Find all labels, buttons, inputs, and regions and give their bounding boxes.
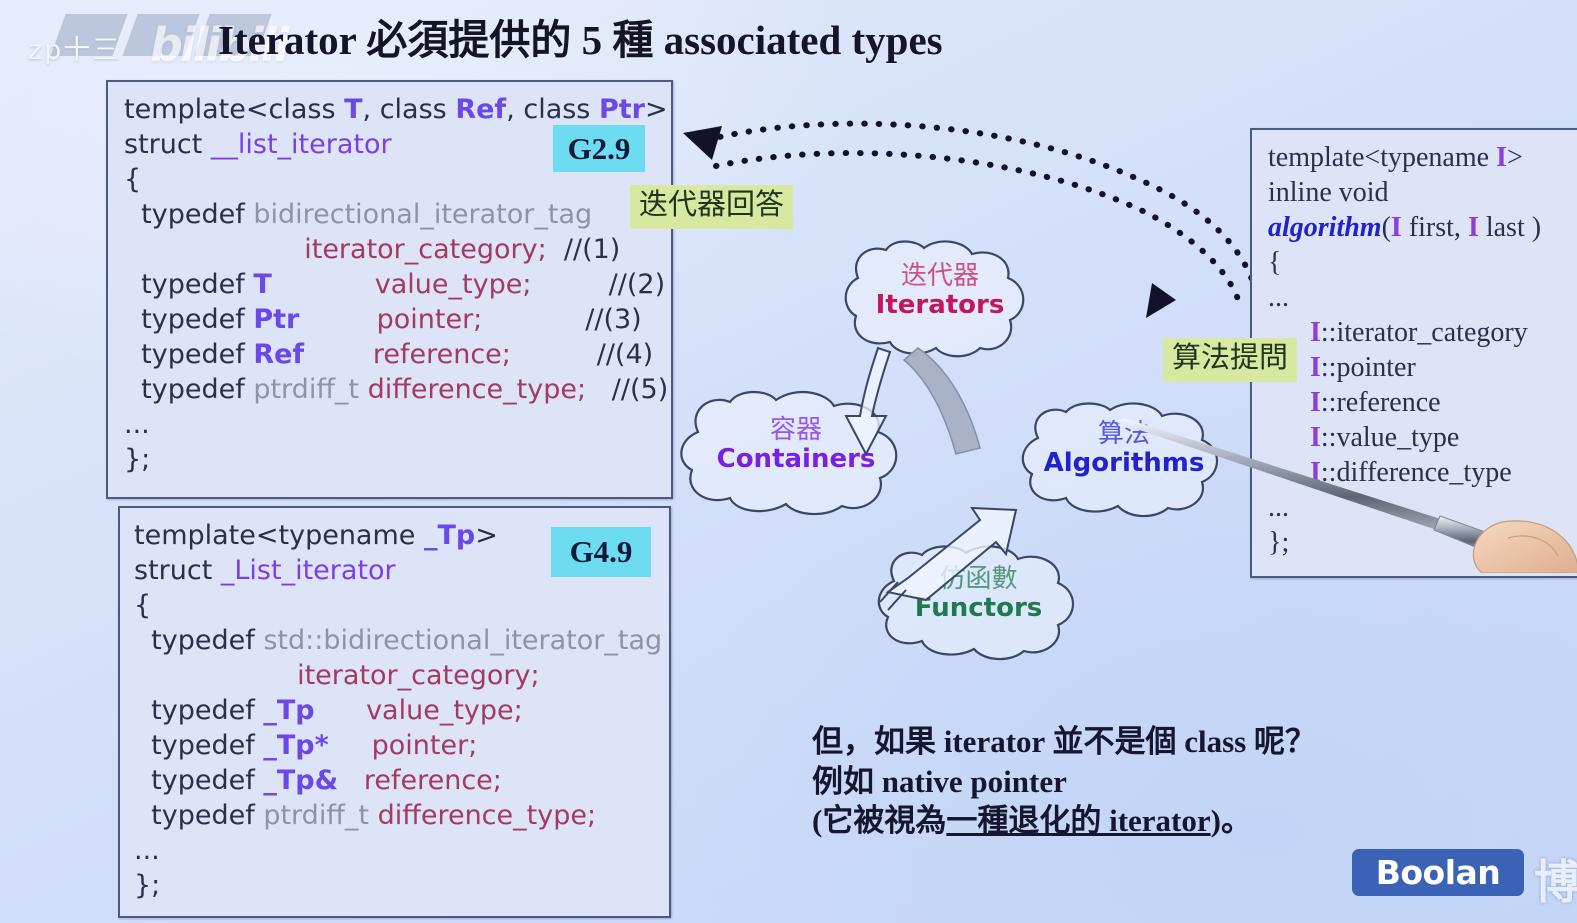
code-line: typedef std::bidirectional_iterator_tag: [134, 627, 662, 654]
boolan-logo-text: Boolan: [1376, 853, 1501, 892]
code-token: ...: [124, 409, 150, 440]
code-token: typedef: [134, 625, 263, 656]
code-token: iterator_category;: [297, 660, 539, 691]
code-token: pointer;: [372, 730, 478, 761]
code-token: value_type;: [375, 269, 532, 300]
code-token: [272, 269, 375, 300]
annotation-iterator-answers: 迭代器回答: [630, 185, 793, 229]
code-token: >: [475, 520, 498, 551]
code-token: >: [1507, 142, 1523, 173]
slide-canvas: zp十三 bilibili Iterator 必須提供的 5 種 associa…: [0, 0, 1577, 923]
code-line: iterator_category; //(1): [124, 236, 620, 263]
code-token: T: [253, 269, 271, 300]
code-line: template<typename I>: [1268, 144, 1523, 172]
code-token: [134, 660, 297, 691]
code-token: I: [1310, 352, 1321, 383]
bottom-note: 但，如果 iterator 並不是個 class 呢？ 例如 native po…: [812, 722, 1316, 841]
code-token: //(5): [586, 374, 668, 405]
code-line: typedef T value_type; //(2): [124, 271, 665, 298]
code-token: _Tp: [424, 520, 475, 551]
code-token: I: [1468, 212, 1479, 243]
code-token: template<class: [124, 94, 344, 125]
code-line: inline void: [1268, 179, 1389, 207]
code-token: ...: [1268, 492, 1289, 523]
code-line: struct _List_iterator: [134, 557, 396, 584]
code-line: typedef ptrdiff_t difference_type; //(5): [124, 376, 668, 403]
code-token: //(2): [531, 269, 665, 300]
code-token: _List_iterator: [221, 555, 396, 586]
code-token: Ref: [253, 339, 304, 370]
badge-g29: G2.9: [553, 125, 645, 172]
code-token: ::value_type: [1321, 422, 1459, 453]
code-line: iterator_category;: [134, 662, 540, 689]
code-token: I: [1310, 387, 1321, 418]
code-token: ::pointer: [1321, 352, 1416, 383]
code-line: I::value_type: [1268, 424, 1459, 452]
code-token: _Tp*: [263, 730, 328, 761]
code-token: ::reference: [1321, 387, 1441, 418]
code-token: I: [1310, 422, 1321, 453]
code-token: typedef: [124, 304, 253, 335]
bottom-note-line2: 例如 native pointer: [812, 762, 1316, 802]
code-token: _Tp&: [263, 765, 338, 796]
cloud-containers-cjk: 容器: [676, 416, 916, 445]
cloud-containers: 容器 Containers: [676, 388, 916, 516]
cloud-containers-en: Containers: [676, 445, 916, 474]
code-token: [124, 234, 304, 265]
code-line: {: [1268, 249, 1281, 277]
bottom-note-line3: (它被視為一種退化的 iterator)。: [812, 801, 1316, 841]
code-line: {: [124, 166, 141, 193]
code-token: I: [1310, 457, 1321, 488]
code-line: typedef _Tp value_type;: [134, 697, 523, 724]
code-token: pointer;: [377, 304, 483, 335]
code-line: ...: [1268, 494, 1289, 522]
code-line: {: [134, 592, 151, 619]
code-token: [338, 765, 364, 796]
code-token: (: [1382, 212, 1391, 243]
code-token: difference_type;: [378, 800, 596, 831]
code-token: struct: [134, 555, 221, 586]
cloud-iterators-cjk: 迭代器: [840, 262, 1040, 291]
cloud-iterators-en: Iterators: [840, 291, 1040, 320]
code-token: [304, 339, 373, 370]
code-line: typedef Ref reference; //(4): [124, 341, 653, 368]
code-token: , class: [363, 94, 456, 125]
code-token: Ptr: [599, 94, 645, 125]
code-token: bidirectional_iterator_tag: [253, 199, 592, 230]
code-token: algorithm: [1268, 212, 1382, 243]
code-line: ...: [134, 837, 160, 864]
code-token: ...: [1268, 282, 1289, 313]
code-token: T: [344, 94, 362, 125]
code-token: };: [124, 444, 150, 475]
cloud-functors-cjk: 仿函數: [876, 565, 1081, 594]
code-line: I::difference_type: [1268, 459, 1512, 487]
code-token: typedef: [124, 339, 253, 370]
code-token: typedef: [124, 374, 253, 405]
code-token: inline void: [1268, 177, 1389, 208]
code-token: template<typename: [134, 520, 424, 551]
code-line: };: [1268, 529, 1289, 557]
code-line: };: [134, 872, 160, 899]
code-token: _Tp: [263, 695, 314, 726]
code-token: , class: [506, 94, 599, 125]
code-token: typedef: [124, 269, 253, 300]
code-token: std::bidirectional_iterator_tag: [263, 625, 662, 656]
code-line: typedef _Tp& reference;: [134, 767, 502, 794]
code-line: };: [124, 446, 150, 473]
code-token: typedef: [134, 800, 263, 831]
code-token: >: [645, 94, 668, 125]
bottom-note-line1: 但，如果 iterator 並不是個 class 呢？: [812, 722, 1316, 762]
code-line: template<class T, class Ref, class Ptr>: [124, 96, 668, 123]
code-token: [1268, 422, 1310, 453]
code-block-algorithm: template<typename I>inline voidalgorithm…: [1250, 128, 1577, 578]
code-token: template<typename: [1268, 142, 1496, 173]
code-line: struct __list_iterator: [124, 131, 392, 158]
code-token: I: [1310, 317, 1321, 348]
code-line: typedef _Tp* pointer;: [134, 732, 477, 759]
code-line: typedef Ptr pointer; //(3): [124, 306, 642, 333]
code-token: reference;: [364, 765, 502, 796]
code-token: Ptr: [253, 304, 299, 335]
code-line: template<typename _Tp>: [134, 522, 498, 549]
code-token: };: [134, 870, 160, 901]
badge-g49: G4.9: [551, 527, 651, 577]
cloud-algorithms-cjk: 算法: [1018, 420, 1230, 449]
cloud-algorithms-en: Algorithms: [1018, 449, 1230, 478]
code-token: value_type;: [366, 695, 523, 726]
code-token: [299, 304, 376, 335]
bottom-note-line3-pre: (它被視為: [812, 803, 946, 838]
code-token: typedef: [124, 199, 253, 230]
code-token: ::difference_type: [1321, 457, 1512, 488]
code-line: ...: [1268, 284, 1289, 312]
code-token: reference;: [373, 339, 511, 370]
code-token: difference_type;: [368, 374, 586, 405]
boolan-logo-cjk: 博: [1534, 846, 1577, 912]
code-token: {: [134, 590, 151, 621]
code-token: //(4): [511, 339, 653, 370]
code-token: I: [1391, 212, 1402, 243]
code-token: //(1): [547, 234, 621, 265]
code-token: Ref: [455, 94, 506, 125]
code-line: I::iterator_category: [1268, 319, 1528, 347]
cloud-algorithms: 算法 Algorithms: [1018, 400, 1230, 512]
code-token: //(3): [482, 304, 641, 335]
bottom-note-line3-post: )。: [1211, 803, 1252, 838]
code-token: last ): [1479, 212, 1541, 243]
annotation-algorithm-asks: 算法提問: [1163, 338, 1297, 382]
code-token: typedef: [134, 695, 263, 726]
uploader-watermark-text: zp十三: [28, 28, 121, 67]
code-token: first,: [1402, 212, 1468, 243]
code-token: typedef: [134, 765, 263, 796]
cloud-functors-en: Functors: [876, 594, 1081, 623]
code-line: typedef ptrdiff_t difference_type;: [134, 802, 596, 829]
code-token: ptrdiff_t: [263, 800, 377, 831]
code-token: __list_iterator: [211, 129, 392, 160]
code-token: ::iterator_category: [1321, 317, 1528, 348]
code-token: {: [124, 164, 141, 195]
code-line: ...: [124, 411, 150, 438]
code-token: [1268, 457, 1310, 488]
code-token: };: [1268, 527, 1289, 558]
code-line: typedef bidirectional_iterator_tag: [124, 201, 592, 228]
code-token: {: [1268, 247, 1281, 278]
page-title: Iterator 必須提供的 5 種 associated types: [218, 6, 943, 66]
code-token: ptrdiff_t: [253, 374, 367, 405]
code-token: [329, 730, 372, 761]
code-line: I::reference: [1268, 389, 1441, 417]
code-token: I: [1496, 142, 1507, 173]
code-line: algorithm(I first, I last ): [1268, 214, 1541, 242]
boolan-logo: Boolan: [1352, 849, 1524, 896]
code-token: struct: [124, 129, 211, 160]
code-token: iterator_category;: [304, 234, 546, 265]
code-token: [315, 695, 367, 726]
code-token: typedef: [134, 730, 263, 761]
cloud-functors: 仿函數 Functors: [876, 545, 1081, 655]
code-token: ...: [134, 835, 160, 866]
code-token: [1268, 387, 1310, 418]
bottom-note-line3-underline: 一種退化的 iterator: [946, 803, 1210, 838]
cloud-iterators: 迭代器 Iterators: [840, 238, 1040, 360]
